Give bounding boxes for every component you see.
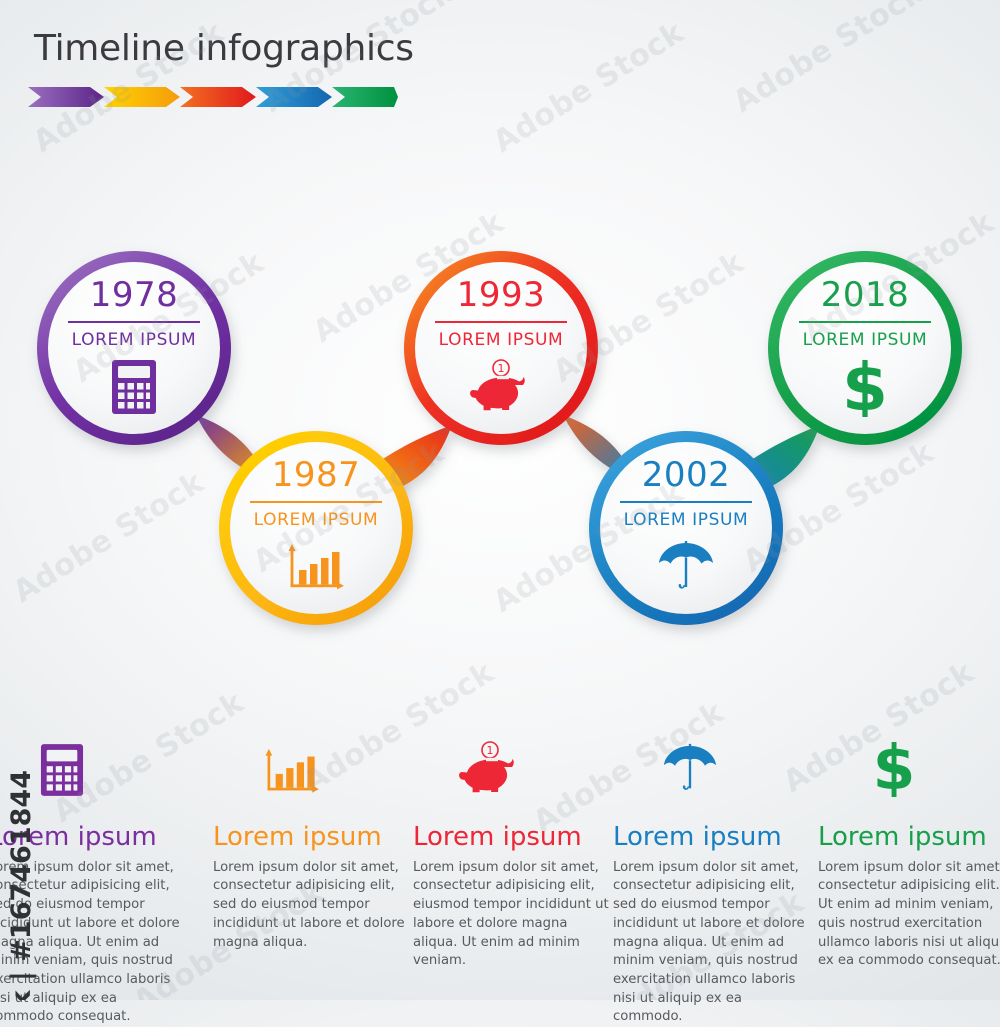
dollar-icon: $ (818, 735, 1000, 797)
umbrella-icon (656, 539, 716, 595)
arrow-1 (28, 87, 104, 107)
detail-column-piggy-bank: 1 Lorem ipsum Lorem ipsum dolor sit amet… (413, 735, 609, 971)
calculator-icon (111, 359, 157, 415)
node-label: LOREM IPSUM (624, 510, 749, 530)
watermark-tile: Adobe Stock (487, 15, 690, 160)
arrow-2 (104, 87, 180, 107)
header: Timeline infographics (34, 28, 414, 69)
node-label: LOREM IPSUM (72, 330, 197, 350)
timeline-node-1993[interactable]: 1993 LOREM IPSUM 1 (403, 250, 599, 446)
watermark-tile: Adobe Stock (727, 0, 930, 120)
node-divider (799, 321, 931, 323)
bar-chart-icon (284, 539, 348, 595)
node-year: 2002 (642, 458, 731, 492)
detail-columns: Lorem ipsum Lorem ipsum dolor sit amet, … (0, 735, 1000, 1000)
timeline-node-1987[interactable]: 1987 LOREM IPSUM (218, 430, 414, 626)
detail-body: Lorem ipsum dolor sit amet, consectetur … (413, 859, 609, 971)
calculator-icon (0, 735, 184, 797)
detail-body: Lorem ipsum dolor sit amet, consectetur … (818, 859, 1000, 971)
dollar-icon: $ (840, 359, 890, 415)
detail-heading: Lorem ipsum (613, 823, 809, 852)
detail-body: Lorem ipsum dolor sit amet, consectetur … (613, 859, 809, 1027)
detail-heading: Lorem ipsum (413, 823, 609, 852)
node-year: 2018 (821, 278, 910, 312)
timeline-stage: 1978 LOREM IPSUM 1987 LOREM IPSUM (0, 225, 1000, 655)
umbrella-icon (613, 735, 809, 797)
page-title: Timeline infographics (34, 28, 414, 69)
arrow-ribbon (26, 84, 400, 110)
detail-body: Lorem ipsum dolor sit amet, consectetur … (0, 859, 184, 1027)
node-label: LOREM IPSUM (254, 510, 379, 530)
detail-heading: Lorem ipsum (213, 823, 409, 852)
arrow-5 (332, 87, 398, 107)
detail-heading: Lorem ipsum (818, 823, 1000, 852)
node-divider (435, 321, 567, 323)
detail-column-umbrella: Lorem ipsum Lorem ipsum dolor sit amet, … (613, 735, 809, 1027)
arrow-4 (256, 87, 332, 107)
node-divider (68, 321, 200, 323)
detail-column-calculator: Lorem ipsum Lorem ipsum dolor sit amet, … (0, 735, 184, 1027)
timeline-node-1978[interactable]: 1978 LOREM IPSUM (36, 250, 232, 446)
detail-column-dollar: $ Lorem ipsum Lorem ipsum dolor sit amet… (818, 735, 1000, 971)
node-year: 1987 (272, 458, 361, 492)
detail-body: Lorem ipsum dolor sit amet, consectetur … (213, 859, 409, 953)
svg-text:$: $ (842, 357, 888, 417)
piggy-bank-icon: 1 (468, 359, 534, 415)
node-year: 1978 (90, 278, 179, 312)
svg-text:1: 1 (498, 362, 505, 375)
timeline-node-2002[interactable]: 2002 LOREM IPSUM (588, 430, 784, 626)
node-year: 1993 (457, 278, 546, 312)
svg-text:$: $ (873, 739, 916, 797)
detail-column-bar-chart: Lorem ipsum Lorem ipsum dolor sit amet, … (213, 735, 409, 952)
bar-chart-icon (213, 735, 409, 797)
node-divider (620, 501, 752, 503)
node-label: LOREM IPSUM (803, 330, 928, 350)
timeline-node-2018[interactable]: 2018 LOREM IPSUM $ (767, 250, 963, 446)
node-divider (250, 501, 382, 503)
svg-text:1: 1 (487, 744, 494, 757)
detail-heading: Lorem ipsum (0, 823, 184, 852)
arrow-3 (180, 87, 256, 107)
piggy-bank-icon: 1 (413, 735, 609, 797)
node-label: LOREM IPSUM (439, 330, 564, 350)
